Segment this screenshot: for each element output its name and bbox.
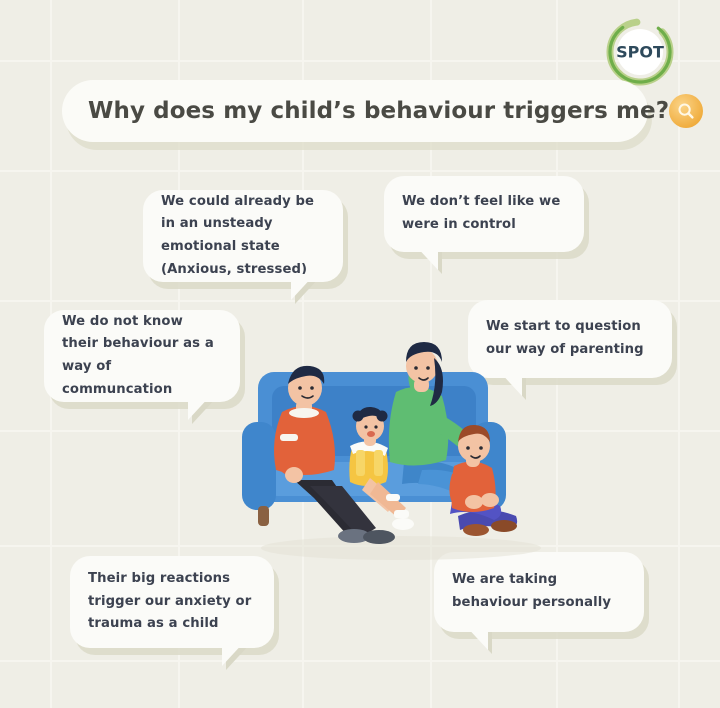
speech-bubble-body: We do not know their behaviour as a way …	[44, 310, 240, 402]
grid-line-horizontal-1	[0, 170, 720, 172]
infographic-canvas: SPOT Why does my child’s behaviour trigg…	[0, 0, 720, 708]
speech-bubble-body: Their big reactions trigger our anxiety …	[70, 556, 274, 648]
speech-bubble-body: We don’t feel like we were in control	[384, 176, 584, 252]
grid-line-horizontal-5	[0, 660, 720, 662]
speech-bubble-text: We do not know their behaviour as a way …	[62, 311, 222, 402]
speech-bubble-behaviour-as-communication: We do not know their behaviour as a way …	[44, 310, 240, 402]
speech-bubble-tail	[222, 640, 246, 666]
speech-bubble-body: We could already be in an unsteady emoti…	[143, 190, 343, 282]
speech-bubble-not-in-control: We don’t feel like we were in control	[384, 176, 584, 252]
speech-bubble-tail	[464, 624, 488, 650]
search-icon[interactable]	[669, 94, 703, 128]
spot-logo-text: SPOT	[616, 43, 664, 62]
page-title: Why does my child’s behaviour triggers m…	[88, 98, 669, 124]
speech-bubble-unsteady-emotional-state: We could already be in an unsteady emoti…	[143, 190, 343, 282]
family-on-couch-illustration	[236, 330, 556, 565]
speech-bubble-tail	[188, 394, 212, 420]
speech-bubble-tail	[291, 274, 315, 300]
speech-bubble-text: We are taking behaviour personally	[452, 569, 626, 614]
speech-bubble-text: Their big reactions trigger our anxiety …	[88, 568, 256, 636]
header-pill: Why does my child’s behaviour triggers m…	[62, 80, 648, 142]
speech-bubble-text: We could already be in an unsteady emoti…	[161, 191, 325, 282]
speech-bubble-big-reactions-trigger: Their big reactions trigger our anxiety …	[70, 556, 274, 648]
speech-bubble-text: We don’t feel like we were in control	[402, 191, 566, 236]
spot-logo: SPOT	[602, 14, 678, 90]
speech-bubble-tail	[414, 244, 438, 270]
